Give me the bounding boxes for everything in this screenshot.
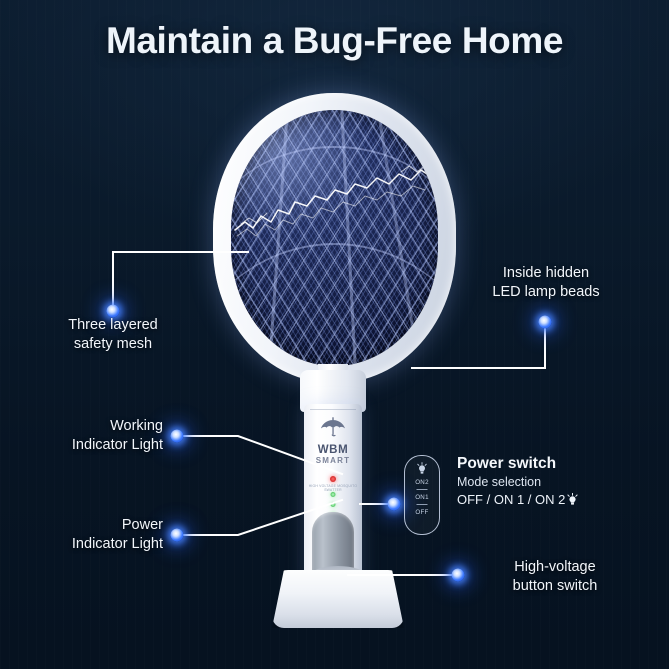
callout-label-line: Power (5, 516, 163, 535)
callout-label-led-beads: Inside hidden LED lamp beads (458, 264, 634, 302)
callout-label-line: safety mesh (27, 335, 199, 354)
brand-name: WBM (304, 444, 362, 456)
callout-label-power-indicator: Power Indicator Light (5, 516, 163, 554)
callout-dot-power-indicator[interactable] (171, 529, 184, 542)
callout-dot-power-switch[interactable] (388, 498, 401, 511)
brand-subname: SMART (304, 456, 362, 465)
handle-micro-text: HIGH VOLTAGE MOSQUITO SWATTER (304, 484, 362, 492)
switch-position-on1: ON1 (405, 494, 439, 501)
infographic-canvas: Maintain a Bug-Free Home (0, 0, 669, 669)
racket-head-frame (213, 93, 456, 383)
callout-dot-led-beads[interactable] (539, 316, 552, 329)
callout-label-line: button switch (462, 577, 648, 596)
callout-label-working-indicator: Working Indicator Light (5, 417, 163, 455)
power-switch-subtitle: Mode selection (457, 475, 541, 489)
callout-dot-working-indicator[interactable] (171, 430, 184, 443)
switch-divider (417, 489, 428, 490)
callout-label-line: High-voltage (462, 558, 648, 577)
power-indicator-led (330, 476, 336, 482)
switch-divider (417, 504, 428, 505)
switch-position-on2: ON2 (405, 479, 439, 486)
callout-label-line: Indicator Light (5, 535, 163, 554)
callout-label-line: Indicator Light (5, 436, 163, 455)
working-indicator-led (331, 492, 336, 497)
callout-label-line: Working (5, 417, 163, 436)
power-switch-diagram[interactable]: ON2 ON1 OFF (404, 455, 440, 535)
power-switch-modes: OFF / ON 1 / ON 2 (457, 492, 579, 507)
callout-label-line: Three layered (27, 316, 199, 335)
callout-label-hv-button: High-voltage button switch (462, 558, 648, 596)
electric-arc-icon (231, 110, 438, 366)
working-indicator-led (331, 502, 336, 507)
callout-label-line: LED lamp beads (458, 283, 634, 302)
charging-base (272, 570, 404, 628)
racket-mesh-area (231, 110, 438, 366)
sun-lamp-icon (566, 493, 579, 506)
handle-seam (310, 409, 356, 410)
callout-label-line: Inside hidden (458, 264, 634, 283)
lamp-icon (416, 462, 429, 475)
switch-position-off: OFF (405, 509, 439, 516)
umbrella-icon (320, 416, 346, 438)
callout-label-safety-mesh: Three layered safety mesh (27, 316, 199, 354)
power-switch-title: Power switch (457, 455, 556, 473)
power-switch-modes-text: OFF / ON 1 / ON 2 (457, 492, 565, 507)
